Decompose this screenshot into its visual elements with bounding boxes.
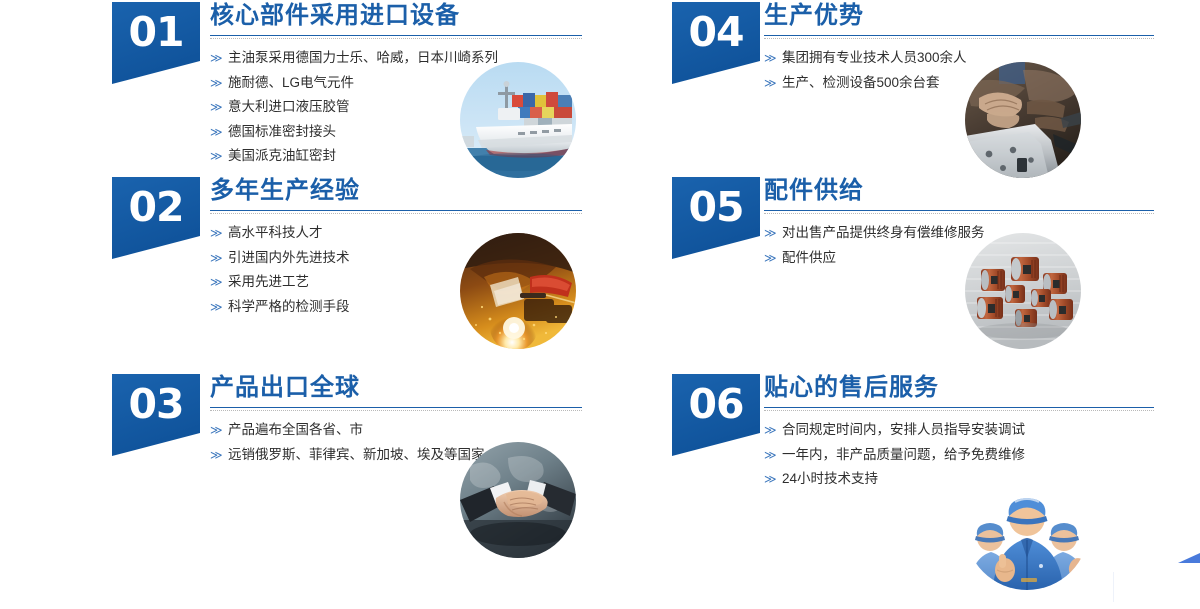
double-chevron-icon: ≫ <box>764 246 777 271</box>
list-item: ≫对出售产品提供终身有偿维修服务 <box>764 221 1144 246</box>
list-item-text: 产品遍布全国各省、市 <box>228 422 363 437</box>
list-item-text: 生产、检测设备500余台套 <box>782 75 940 90</box>
list-item-text: 配件供应 <box>782 250 836 265</box>
list-item-text: 高水平科技人才 <box>228 225 323 240</box>
feature-list: ≫合同规定时间内，安排人员指导安装调试 ≫一年内，非产品质量问题，给予免费维修 … <box>764 418 1144 492</box>
section-header: 贴心的售后服务 <box>764 372 1154 411</box>
section-title: 多年生产经验 <box>210 175 582 207</box>
section-header: 核心部件采用进口设备 <box>210 0 582 39</box>
dotted-divider <box>210 213 582 214</box>
list-item-text: 一年内，非产品质量问题，给予免费维修 <box>782 447 1025 462</box>
solid-divider <box>764 210 1154 211</box>
title-rule <box>210 210 582 214</box>
list-item-text: 德国标准密封接头 <box>228 124 336 139</box>
machining-photo <box>965 62 1081 178</box>
section-header: 生产优势 <box>764 0 1154 39</box>
double-chevron-icon: ≫ <box>210 418 223 443</box>
section-number: 04 <box>672 6 760 59</box>
feature-list: ≫对出售产品提供终身有偿维修服务 ≫配件供应 <box>764 221 1144 270</box>
handshake-photo <box>460 442 576 558</box>
double-chevron-icon: ≫ <box>210 221 223 246</box>
list-item: ≫集团拥有专业技术人员300余人 <box>764 46 1144 71</box>
list-item: ≫产品遍布全国各省、市 <box>210 418 590 443</box>
solid-divider <box>764 407 1154 408</box>
edge-guide-line <box>1113 572 1114 602</box>
title-rule <box>764 407 1154 411</box>
double-chevron-icon: ≫ <box>764 71 777 96</box>
cargo-ship-photo <box>460 62 576 178</box>
double-chevron-icon: ≫ <box>210 144 223 169</box>
section-number: 06 <box>672 378 760 431</box>
double-chevron-icon: ≫ <box>764 467 777 492</box>
section-header: 产品出口全球 <box>210 372 582 411</box>
solid-divider <box>210 407 582 408</box>
dotted-divider <box>764 410 1154 411</box>
title-rule <box>210 407 582 411</box>
solid-divider <box>210 210 582 211</box>
list-item-text: 施耐德、LG电气元件 <box>228 75 354 90</box>
dotted-divider <box>764 38 1154 39</box>
double-chevron-icon: ≫ <box>210 295 223 320</box>
copper-parts-photo <box>965 233 1081 349</box>
section-title: 贴心的售后服务 <box>764 372 1154 404</box>
list-item-text: 意大利进口液压胶管 <box>228 99 350 114</box>
list-item-text: 集团拥有专业技术人员300余人 <box>782 50 967 65</box>
solid-divider <box>764 35 1154 36</box>
list-item-text: 引进国内外先进技术 <box>228 250 350 265</box>
section-number: 03 <box>112 378 200 431</box>
welding-sparks-photo <box>460 233 576 349</box>
dotted-divider <box>210 38 582 39</box>
title-rule <box>210 35 582 39</box>
double-chevron-icon: ≫ <box>210 46 223 71</box>
list-item: ≫配件供应 <box>764 246 1144 271</box>
list-item: ≫合同规定时间内，安排人员指导安装调试 <box>764 418 1144 443</box>
corner-triangle-marker <box>1178 553 1200 563</box>
list-item-text: 科学严格的检测手段 <box>228 299 350 314</box>
double-chevron-icon: ≫ <box>764 46 777 71</box>
feature-list: ≫集团拥有专业技术人员300余人 ≫生产、检测设备500余台套 <box>764 46 1144 95</box>
list-item-text: 远销俄罗斯、菲律宾、新加坡、埃及等国家 <box>228 447 485 462</box>
section-number: 01 <box>112 6 200 59</box>
section-header: 配件供给 <box>764 175 1154 214</box>
title-rule <box>764 35 1154 39</box>
list-item-text: 24小时技术支持 <box>782 471 878 486</box>
double-chevron-icon: ≫ <box>210 270 223 295</box>
section-title: 配件供给 <box>764 175 1154 207</box>
dotted-divider <box>210 410 582 411</box>
list-item-text: 美国派克油缸密封 <box>228 148 336 163</box>
list-item-text: 采用先进工艺 <box>228 274 309 289</box>
list-item: ≫生产、检测设备500余台套 <box>764 71 1144 96</box>
double-chevron-icon: ≫ <box>210 71 223 96</box>
double-chevron-icon: ≫ <box>210 95 223 120</box>
section-number: 05 <box>672 181 760 234</box>
section-title: 生产优势 <box>764 0 1154 32</box>
list-item-text: 主油泵采用德国力士乐、哈威，日本川崎系列 <box>228 50 498 65</box>
double-chevron-icon: ≫ <box>210 443 223 468</box>
solid-divider <box>210 35 582 36</box>
list-item: ≫24小时技术支持 <box>764 467 1144 492</box>
double-chevron-icon: ≫ <box>210 120 223 145</box>
dotted-divider <box>764 213 1154 214</box>
section-title: 产品出口全球 <box>210 372 582 404</box>
list-item-text: 对出售产品提供终身有偿维修服务 <box>782 225 985 240</box>
service-team-photo <box>965 466 1089 590</box>
list-item: ≫一年内，非产品质量问题，给予免费维修 <box>764 443 1144 468</box>
section-title: 核心部件采用进口设备 <box>210 0 582 32</box>
double-chevron-icon: ≫ <box>764 443 777 468</box>
list-item-text: 合同规定时间内，安排人员指导安装调试 <box>782 422 1025 437</box>
title-rule <box>764 210 1154 214</box>
double-chevron-icon: ≫ <box>764 418 777 443</box>
section-header: 多年生产经验 <box>210 175 582 214</box>
section-number: 02 <box>112 181 200 234</box>
double-chevron-icon: ≫ <box>764 221 777 246</box>
double-chevron-icon: ≫ <box>210 246 223 271</box>
advantages-page: 01 核心部件采用进口设备 ≫主油泵采用德国力士乐、哈威，日本川崎系列 ≫施耐德… <box>0 0 1200 609</box>
